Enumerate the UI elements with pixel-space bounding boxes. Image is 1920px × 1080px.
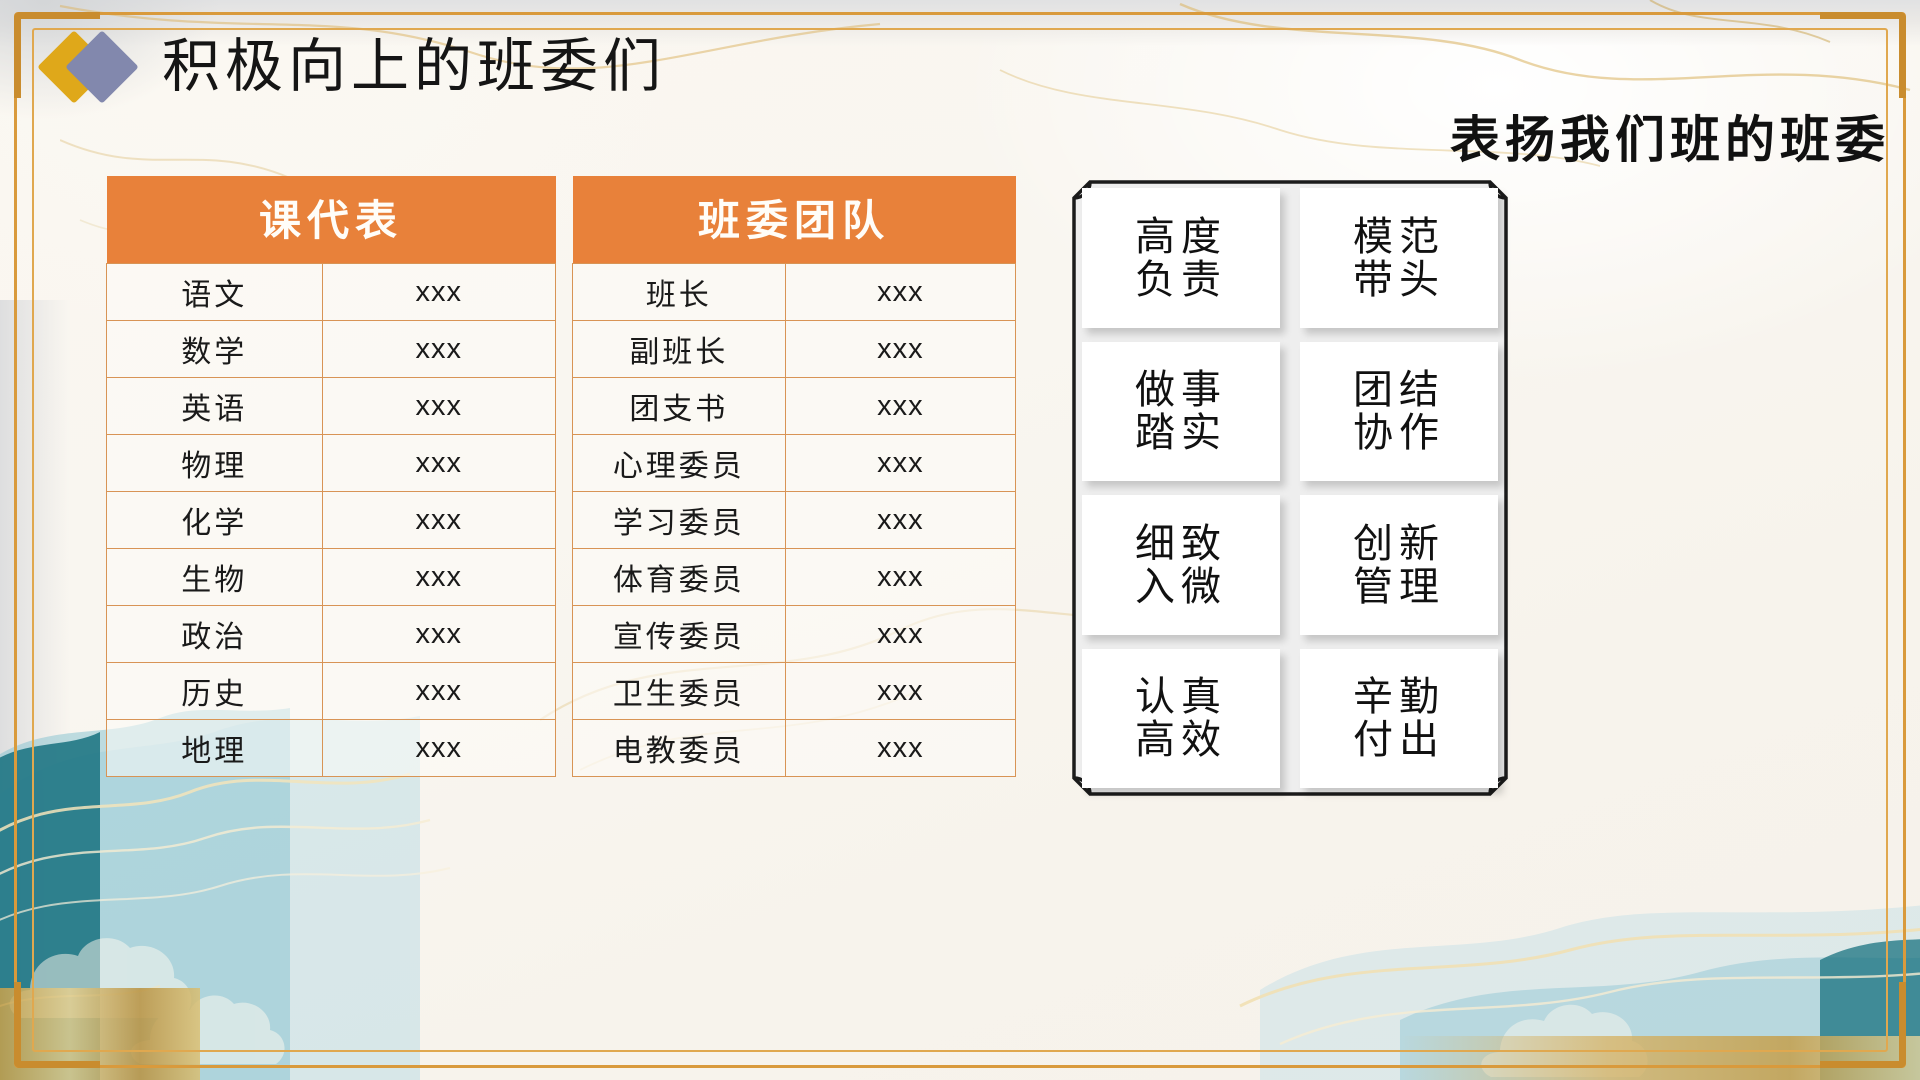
row-label: 英语 xyxy=(107,378,323,435)
table-row: 副班长xxx xyxy=(573,321,1016,378)
row-value[interactable]: xxx xyxy=(785,378,1015,435)
row-label: 班长 xyxy=(573,264,786,321)
row-label: 数学 xyxy=(107,321,323,378)
border-corner-bottom-right xyxy=(1820,982,1906,1068)
praise-card[interactable]: 高度 负责 xyxy=(1082,188,1280,328)
praise-card-grid: 高度 负责 模范 带头 做事 踏实 团结 协作 细致 入微 创新 管理 xyxy=(1082,188,1498,788)
row-label: 生物 xyxy=(107,549,323,606)
table-row: 历史xxx xyxy=(107,663,556,720)
row-value[interactable]: xxx xyxy=(785,435,1015,492)
border-corner-top-right xyxy=(1820,12,1906,98)
row-value[interactable]: xxx xyxy=(322,435,555,492)
row-label: 化学 xyxy=(107,492,323,549)
praise-card[interactable]: 模范 带头 xyxy=(1300,188,1498,328)
row-label: 体育委员 xyxy=(573,549,786,606)
table-row: 卫生委员xxx xyxy=(573,663,1016,720)
table-row: 物理xxx xyxy=(107,435,556,492)
row-label: 副班长 xyxy=(573,321,786,378)
card-line-2: 高效 xyxy=(1135,718,1227,761)
praise-card[interactable]: 创新 管理 xyxy=(1300,495,1498,635)
row-value[interactable]: xxx xyxy=(322,264,555,321)
table-header-committee: 班委团队 xyxy=(573,176,1016,264)
table-row: 生物xxx xyxy=(107,549,556,606)
row-label: 卫生委员 xyxy=(573,663,786,720)
row-value[interactable]: xxx xyxy=(785,720,1015,777)
card-line-1: 细致 xyxy=(1135,522,1227,565)
praise-card[interactable]: 细致 入微 xyxy=(1082,495,1280,635)
row-value[interactable]: xxx xyxy=(322,492,555,549)
row-label: 宣传委员 xyxy=(573,606,786,663)
border-corner-bottom-left xyxy=(14,982,100,1068)
row-value[interactable]: xxx xyxy=(785,492,1015,549)
card-line-1: 模范 xyxy=(1353,215,1445,258)
slide-title-row: 积极向上的班委们 xyxy=(48,38,666,96)
card-line-2: 入微 xyxy=(1135,565,1227,608)
card-line-2: 付出 xyxy=(1353,718,1445,761)
table-header-subject: 课代表 xyxy=(107,176,556,264)
table-row: 政治xxx xyxy=(107,606,556,663)
row-value[interactable]: xxx xyxy=(322,549,555,606)
card-line-1: 辛勤 xyxy=(1353,675,1445,718)
row-value[interactable]: xxx xyxy=(785,549,1015,606)
card-line-2: 协作 xyxy=(1353,411,1445,454)
row-label: 心理委员 xyxy=(573,435,786,492)
row-value[interactable]: xxx xyxy=(785,321,1015,378)
class-committee-table: 班委团队 班长xxx 副班长xxx 团支书xxx 心理委员xxx 学习委员xxx… xyxy=(572,176,1016,777)
card-line-1: 高度 xyxy=(1135,215,1227,258)
card-line-2: 负责 xyxy=(1135,258,1227,301)
table-row: 心理委员xxx xyxy=(573,435,1016,492)
card-line-2: 带头 xyxy=(1353,258,1445,301)
row-label: 电教委员 xyxy=(573,720,786,777)
row-value[interactable]: xxx xyxy=(322,663,555,720)
praise-card[interactable]: 认真 高效 xyxy=(1082,649,1280,789)
table-row: 英语xxx xyxy=(107,378,556,435)
row-value[interactable]: xxx xyxy=(785,663,1015,720)
committee-tables: 课代表 语文xxx 数学xxx 英语xxx 物理xxx 化学xxx 生物xxx … xyxy=(106,176,1016,777)
card-line-1: 团结 xyxy=(1353,368,1445,411)
praise-card-panel: 高度 负责 模范 带头 做事 踏实 团结 协作 细致 入微 创新 管理 xyxy=(1060,168,1520,808)
slide-canvas: 积极向上的班委们 表扬我们班的班委 课代表 语文xxx 数学xxx 英语xxx … xyxy=(0,0,1920,1080)
table-row: 班长xxx xyxy=(573,264,1016,321)
table-row: 团支书xxx xyxy=(573,378,1016,435)
table-row: 电教委员xxx xyxy=(573,720,1016,777)
row-label: 地理 xyxy=(107,720,323,777)
table-row: 语文xxx xyxy=(107,264,556,321)
card-line-2: 管理 xyxy=(1353,565,1445,608)
card-line-1: 创新 xyxy=(1353,522,1445,565)
page-title: 积极向上的班委们 xyxy=(162,38,666,96)
row-value[interactable]: xxx xyxy=(785,264,1015,321)
row-label: 团支书 xyxy=(573,378,786,435)
row-label: 物理 xyxy=(107,435,323,492)
table-row: 宣传委员xxx xyxy=(573,606,1016,663)
table-row: 地理xxx xyxy=(107,720,556,777)
row-label: 学习委员 xyxy=(573,492,786,549)
row-value[interactable]: xxx xyxy=(322,720,555,777)
row-value[interactable]: xxx xyxy=(322,378,555,435)
praise-card[interactable]: 做事 踏实 xyxy=(1082,342,1280,482)
praise-card[interactable]: 团结 协作 xyxy=(1300,342,1498,482)
card-line-1: 认真 xyxy=(1135,675,1227,718)
table-row: 数学xxx xyxy=(107,321,556,378)
table-row: 体育委员xxx xyxy=(573,549,1016,606)
row-label: 政治 xyxy=(107,606,323,663)
row-value[interactable]: xxx xyxy=(322,321,555,378)
table-row: 学习委员xxx xyxy=(573,492,1016,549)
praise-section-heading: 表扬我们班的班委 xyxy=(1450,100,1890,172)
subject-representative-table: 课代表 语文xxx 数学xxx 英语xxx 物理xxx 化学xxx 生物xxx … xyxy=(106,176,556,777)
row-value[interactable]: xxx xyxy=(785,606,1015,663)
card-line-2: 踏实 xyxy=(1135,411,1227,454)
row-label: 语文 xyxy=(107,264,323,321)
row-label: 历史 xyxy=(107,663,323,720)
praise-card[interactable]: 辛勤 付出 xyxy=(1300,649,1498,789)
row-value[interactable]: xxx xyxy=(322,606,555,663)
table-row: 化学xxx xyxy=(107,492,556,549)
card-line-1: 做事 xyxy=(1135,368,1227,411)
